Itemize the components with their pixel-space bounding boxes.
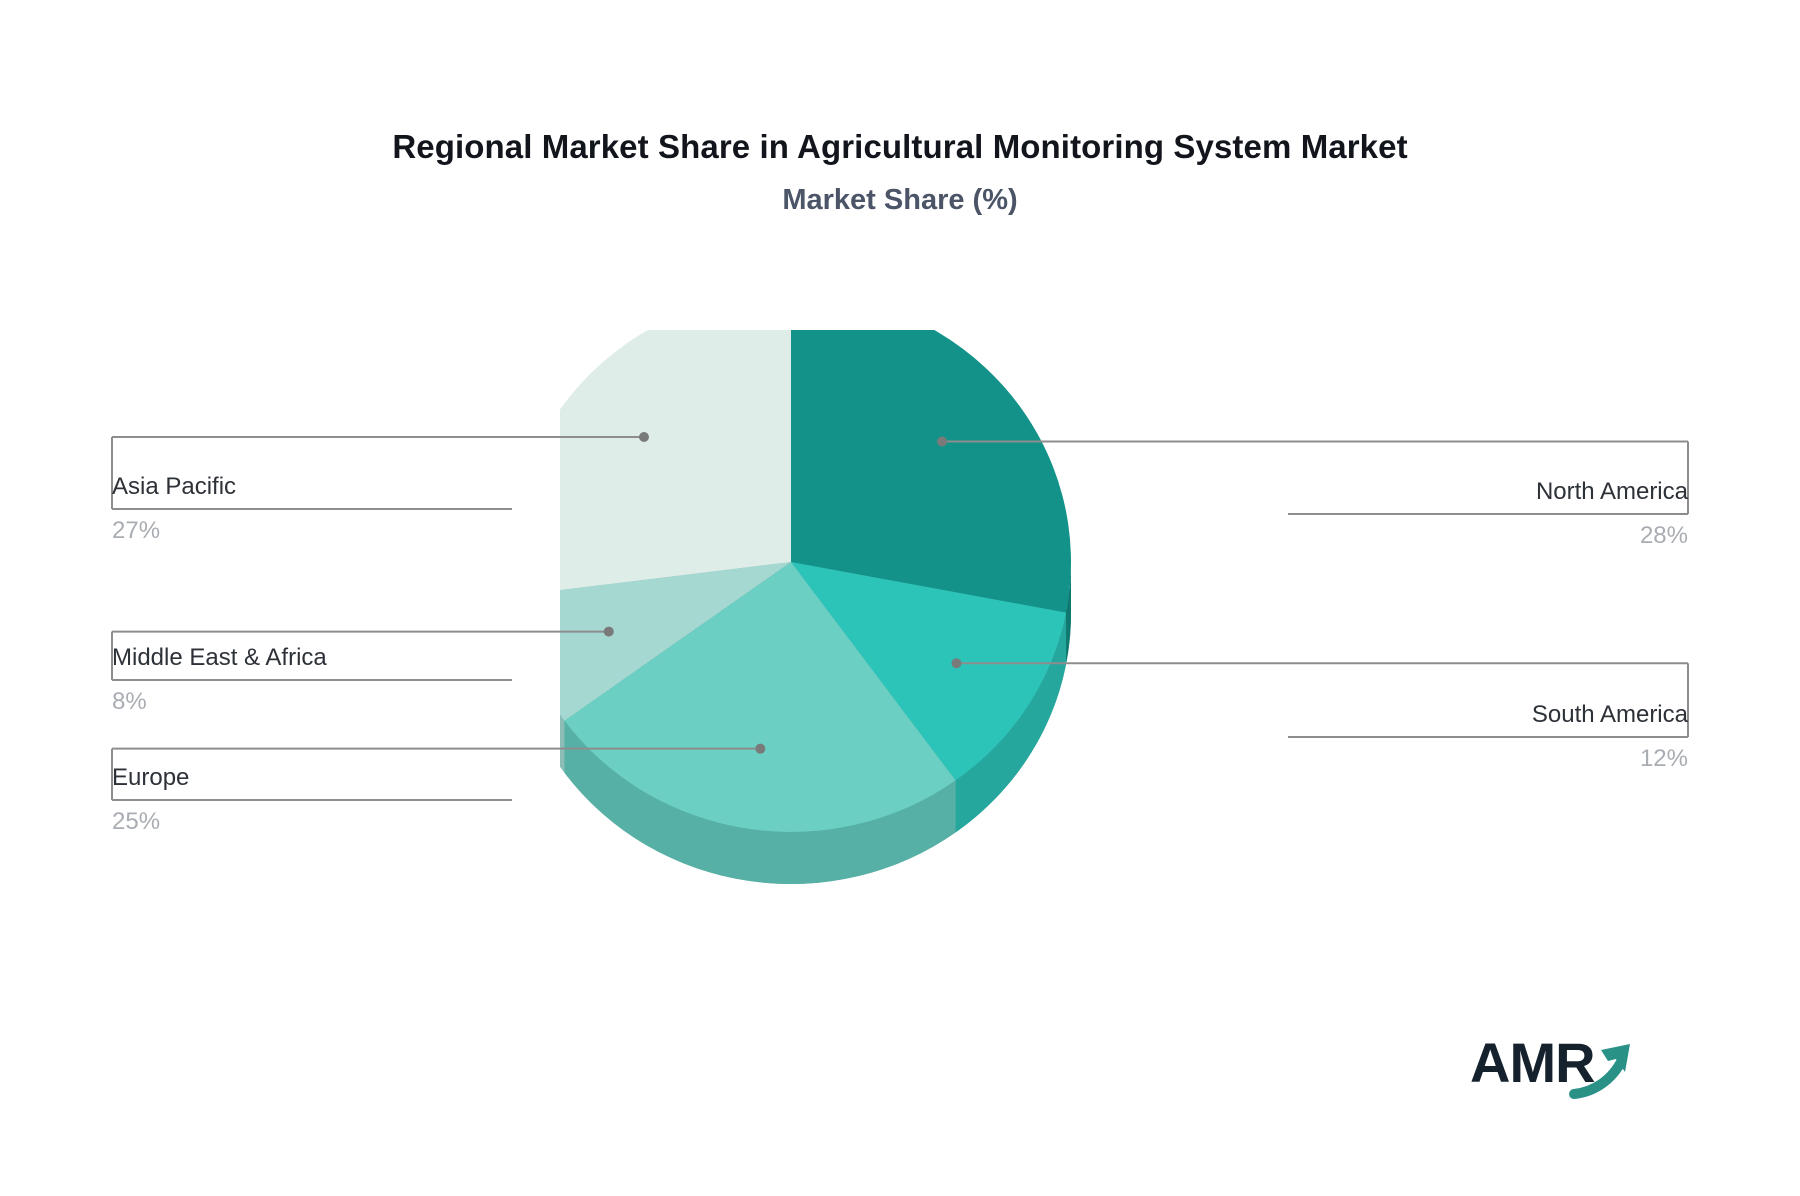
callout-europe[interactable]: Europe 25%: [112, 763, 512, 837]
pie-chart-svg: [560, 330, 1250, 950]
amr-wordmark: AMR: [1470, 1031, 1595, 1094]
callout-rule: [112, 799, 512, 801]
callout-rule: [112, 679, 512, 681]
amr-logo: AMR: [1470, 1030, 1650, 1102]
callout-value: 25%: [112, 807, 512, 837]
callout-middle-east-africa[interactable]: Middle East & Africa 8%: [112, 643, 512, 717]
pie-slice-asia-pacific[interactable]: [560, 330, 791, 596]
pie-chart: [560, 330, 1250, 950]
callout-label: Asia Pacific: [112, 472, 512, 502]
page-title: Regional Market Share in Agricultural Mo…: [0, 128, 1800, 166]
callout-value: 28%: [1288, 521, 1688, 551]
callout-label: Europe: [112, 763, 512, 793]
amr-logo-svg: AMR: [1470, 1030, 1650, 1102]
callout-value: 12%: [1288, 744, 1688, 774]
callout-label: North America: [1288, 477, 1688, 507]
callout-rule: [112, 508, 512, 510]
callout-value: 8%: [112, 687, 512, 717]
callout-label: Middle East & Africa: [112, 643, 512, 673]
callout-south-america[interactable]: South America 12%: [1288, 700, 1688, 774]
chart-subtitle: Market Share (%): [0, 184, 1800, 217]
chart-canvas: Regional Market Share in Agricultural Mo…: [0, 0, 1800, 1196]
callout-north-america[interactable]: North America 28%: [1288, 477, 1688, 551]
callout-label: South America: [1288, 700, 1688, 730]
callout-rule: [1288, 513, 1688, 515]
callout-rule: [1288, 736, 1688, 738]
callout-asia-pacific[interactable]: Asia Pacific 27%: [112, 472, 512, 546]
callout-value: 27%: [112, 516, 512, 546]
title-block: Regional Market Share in Agricultural Mo…: [0, 128, 1800, 217]
